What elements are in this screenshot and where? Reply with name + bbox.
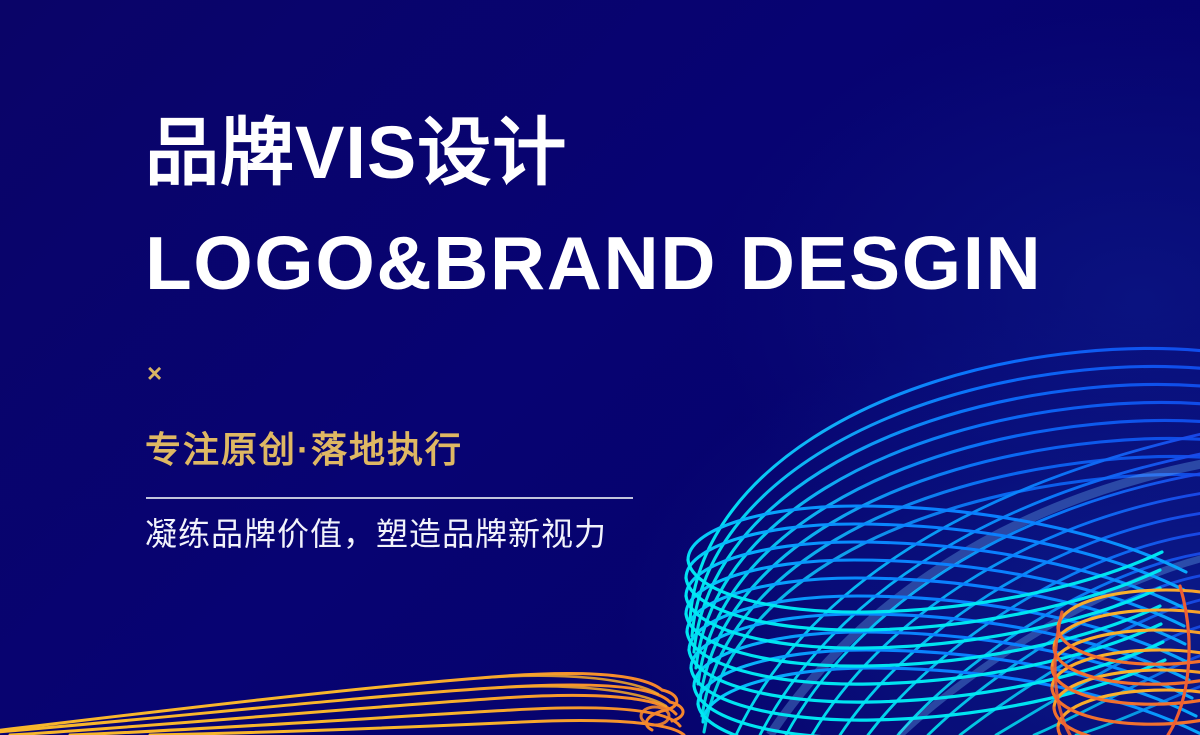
decorative-coil-artwork [0,0,1200,735]
brand-vis-banner: 品牌VIS设计 LOGO&BRAND DESGIN × 专注原创·落地执行 凝练… [0,0,1200,735]
